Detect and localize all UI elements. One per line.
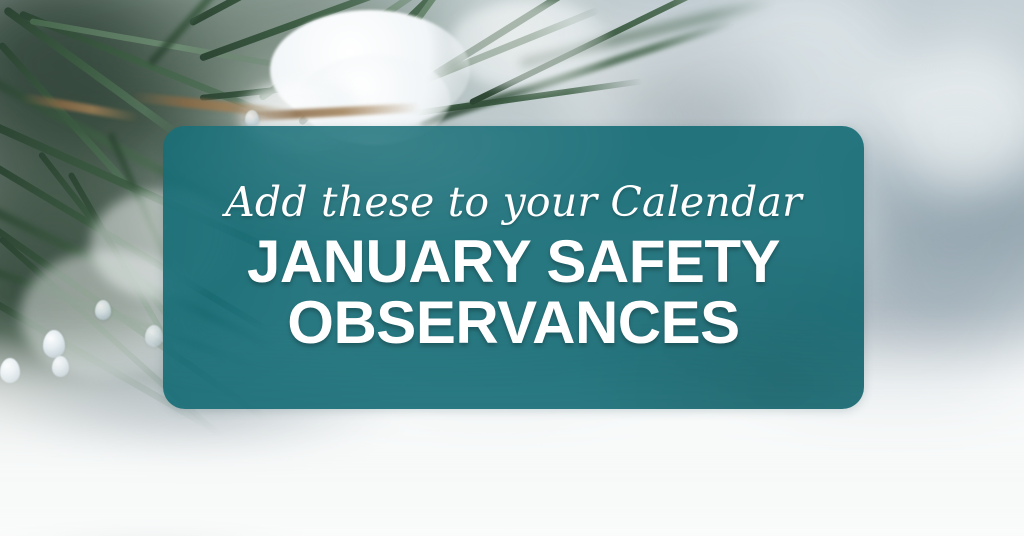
title-card: Add these to your Calendar JANUARY SAFET… (163, 126, 864, 409)
card-headline: JANUARY SAFETY OBSERVANCES (247, 231, 780, 353)
banner: Add these to your Calendar JANUARY SAFET… (0, 0, 1024, 536)
card-eyebrow: Add these to your Calendar (225, 182, 802, 223)
headline-line-2: OBSERVANCES (247, 292, 780, 353)
headline-line-1: JANUARY SAFETY (247, 231, 780, 292)
water-droplet (245, 110, 259, 127)
snow-clump (450, 0, 610, 90)
